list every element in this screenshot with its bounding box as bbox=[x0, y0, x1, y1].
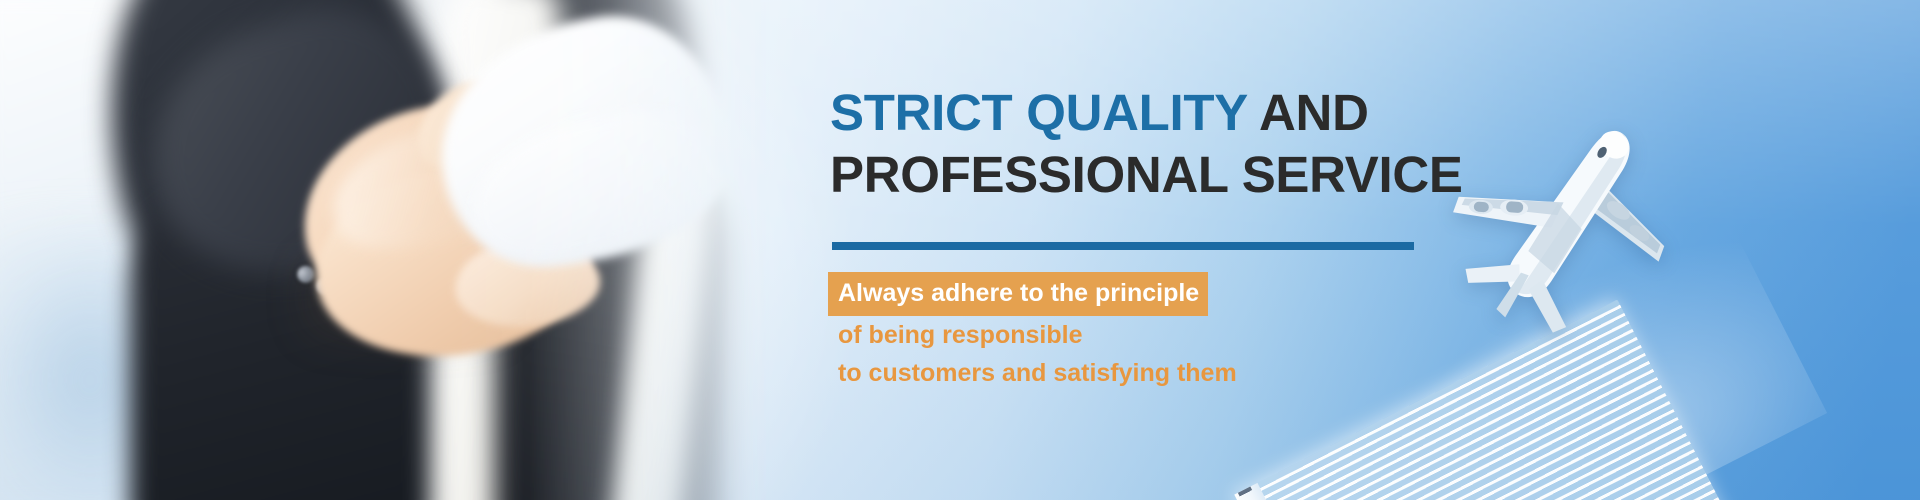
page-title: STRICT QUALITY AND PROFESSIONAL SERVICE bbox=[830, 82, 1463, 206]
headline-accent: STRICT QUALITY bbox=[830, 84, 1247, 141]
title-divider bbox=[832, 242, 1414, 250]
subtext-highlight-line: Always adhere to the principle bbox=[828, 272, 1208, 316]
headline-line2: PROFESSIONAL SERVICE bbox=[830, 146, 1463, 203]
banner-subtext: Always adhere to the principle of being … bbox=[830, 272, 1470, 392]
handshake-photo bbox=[0, 0, 780, 500]
subtext-line-3: to customers and satisfying them bbox=[830, 355, 1470, 392]
banner-text-block: STRICT QUALITY AND PROFESSIONAL SERVICE … bbox=[830, 0, 1530, 500]
headline-line1-rest: AND bbox=[1247, 84, 1369, 141]
hero-banner: STRICT QUALITY AND PROFESSIONAL SERVICE … bbox=[0, 0, 1920, 500]
subtext-line-2: of being responsible bbox=[830, 317, 1470, 354]
